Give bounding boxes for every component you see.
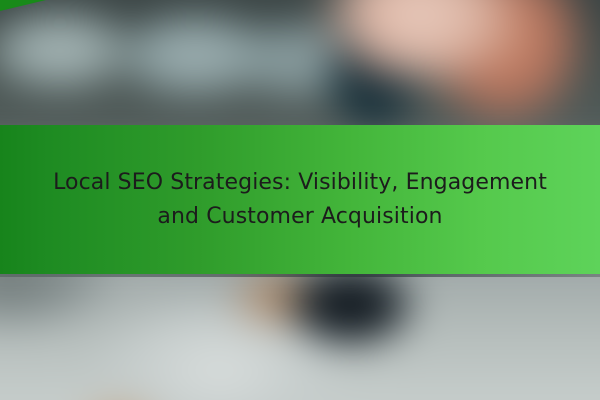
page-title: Local SEO Strategies: Visibility, Engage… bbox=[6, 166, 594, 233]
page-title-line-1: Local SEO Strategies: Visibility, Engage… bbox=[53, 170, 547, 195]
photo-seam-line bbox=[0, 274, 600, 277]
page-title-line-2: and Customer Acquisition bbox=[157, 204, 442, 229]
blog-hero-banner: Local SEO Strategies: Visibility, Engage… bbox=[0, 0, 600, 400]
title-overlay-band: Local SEO Strategies: Visibility, Engage… bbox=[0, 125, 600, 274]
